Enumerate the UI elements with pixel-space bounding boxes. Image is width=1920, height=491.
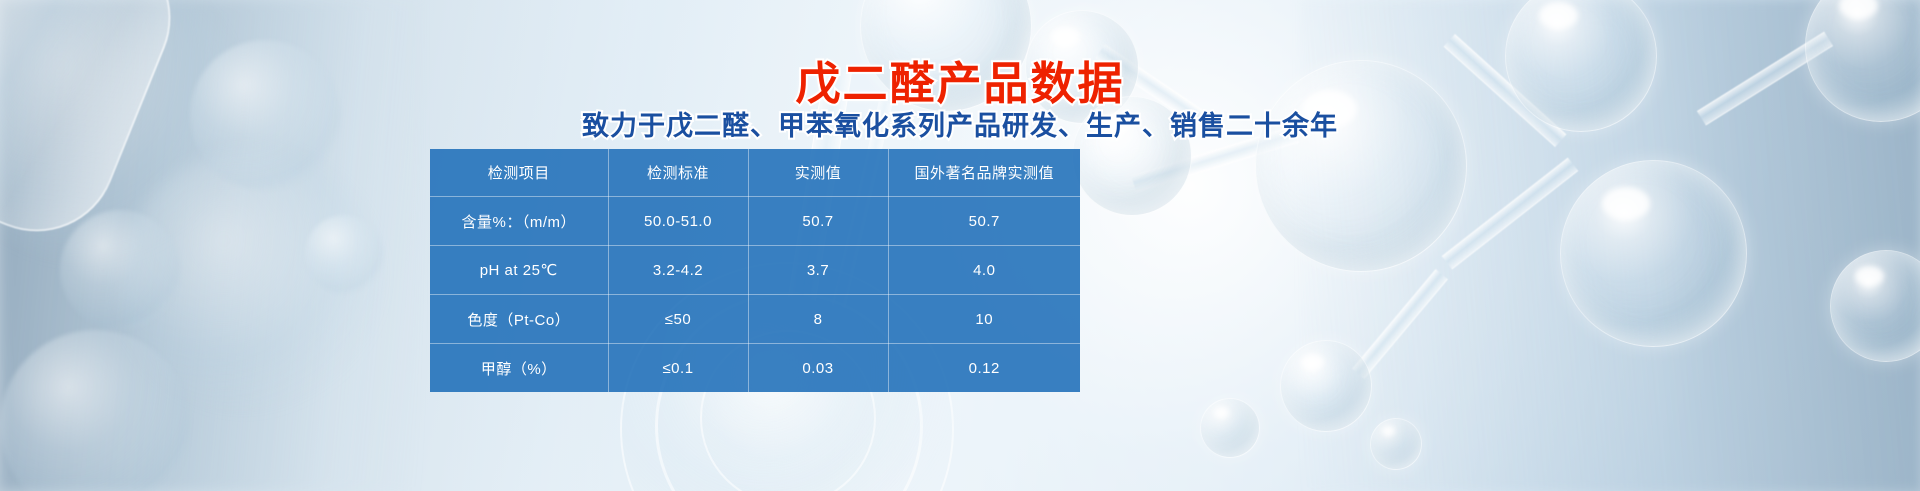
table-cell: 50.7 (888, 197, 1080, 246)
bubble (305, 215, 383, 293)
table-cell: 50.7 (748, 197, 888, 246)
table-cell: ≤50 (608, 295, 748, 344)
spec-table-head: 检测项目检测标准实测值国外著名品牌实测值 (430, 149, 1080, 197)
table-cell: 3.2-4.2 (608, 246, 748, 295)
molecule-node (1280, 340, 1372, 432)
molecule-node (1200, 398, 1260, 458)
table-cell: 10 (888, 295, 1080, 344)
table-cell: 0.03 (748, 344, 888, 393)
table-cell: 50.0-51.0 (608, 197, 748, 246)
molecule-node (1560, 160, 1747, 347)
molecule-node (1370, 418, 1422, 470)
table-header-cell-2: 实测值 (748, 149, 888, 197)
product-data-banner: 戊二醛产品数据 致力于戊二醛、甲苯氧化系列产品研发、生产、销售二十余年 检测项目… (0, 0, 1920, 491)
table-cell: ≤0.1 (608, 344, 748, 393)
table-cell: 甲醇（%） (430, 344, 608, 393)
spec-table: 检测项目检测标准实测值国外著名品牌实测值 含量%：（m/m）50.0-51.05… (430, 149, 1080, 392)
table-header-cell-3: 国外著名品牌实测值 (888, 149, 1080, 197)
table-cell: 8 (748, 295, 888, 344)
table-header-cell-1: 检测标准 (608, 149, 748, 197)
subheadline-container: 致力于戊二醛、甲苯氧化系列产品研发、生产、销售二十余年 (0, 104, 1920, 143)
page-title: 戊二醛产品数据 (795, 47, 1124, 112)
table-row: 甲醇（%）≤0.10.030.12 (430, 344, 1080, 393)
table-header-cell-0: 检测项目 (430, 149, 608, 197)
table-row: pH at 25℃3.2-4.23.74.0 (430, 246, 1080, 295)
table-cell: 0.12 (888, 344, 1080, 393)
page-subtitle: 致力于戊二醛、甲苯氧化系列产品研发、生产、销售二十余年 (582, 104, 1338, 143)
table-header-row: 检测项目检测标准实测值国外著名品牌实测值 (430, 149, 1080, 197)
table-cell: 4.0 (888, 246, 1080, 295)
table-row: 色度（Pt-Co）≤50810 (430, 295, 1080, 344)
spec-table-body: 含量%：（m/m）50.0-51.050.750.7pH at 25℃3.2-4… (430, 197, 1080, 393)
table-row: 含量%：（m/m）50.0-51.050.750.7 (430, 197, 1080, 246)
table-cell: pH at 25℃ (430, 246, 608, 295)
table-cell: 3.7 (748, 246, 888, 295)
headline-container: 戊二醛产品数据 (0, 47, 1920, 112)
table-cell: 色度（Pt-Co） (430, 295, 608, 344)
bubble (60, 210, 180, 330)
spec-table-container: 检测项目检测标准实测值国外著名品牌实测值 含量%：（m/m）50.0-51.05… (430, 149, 1080, 392)
table-cell: 含量%：（m/m） (430, 197, 608, 246)
